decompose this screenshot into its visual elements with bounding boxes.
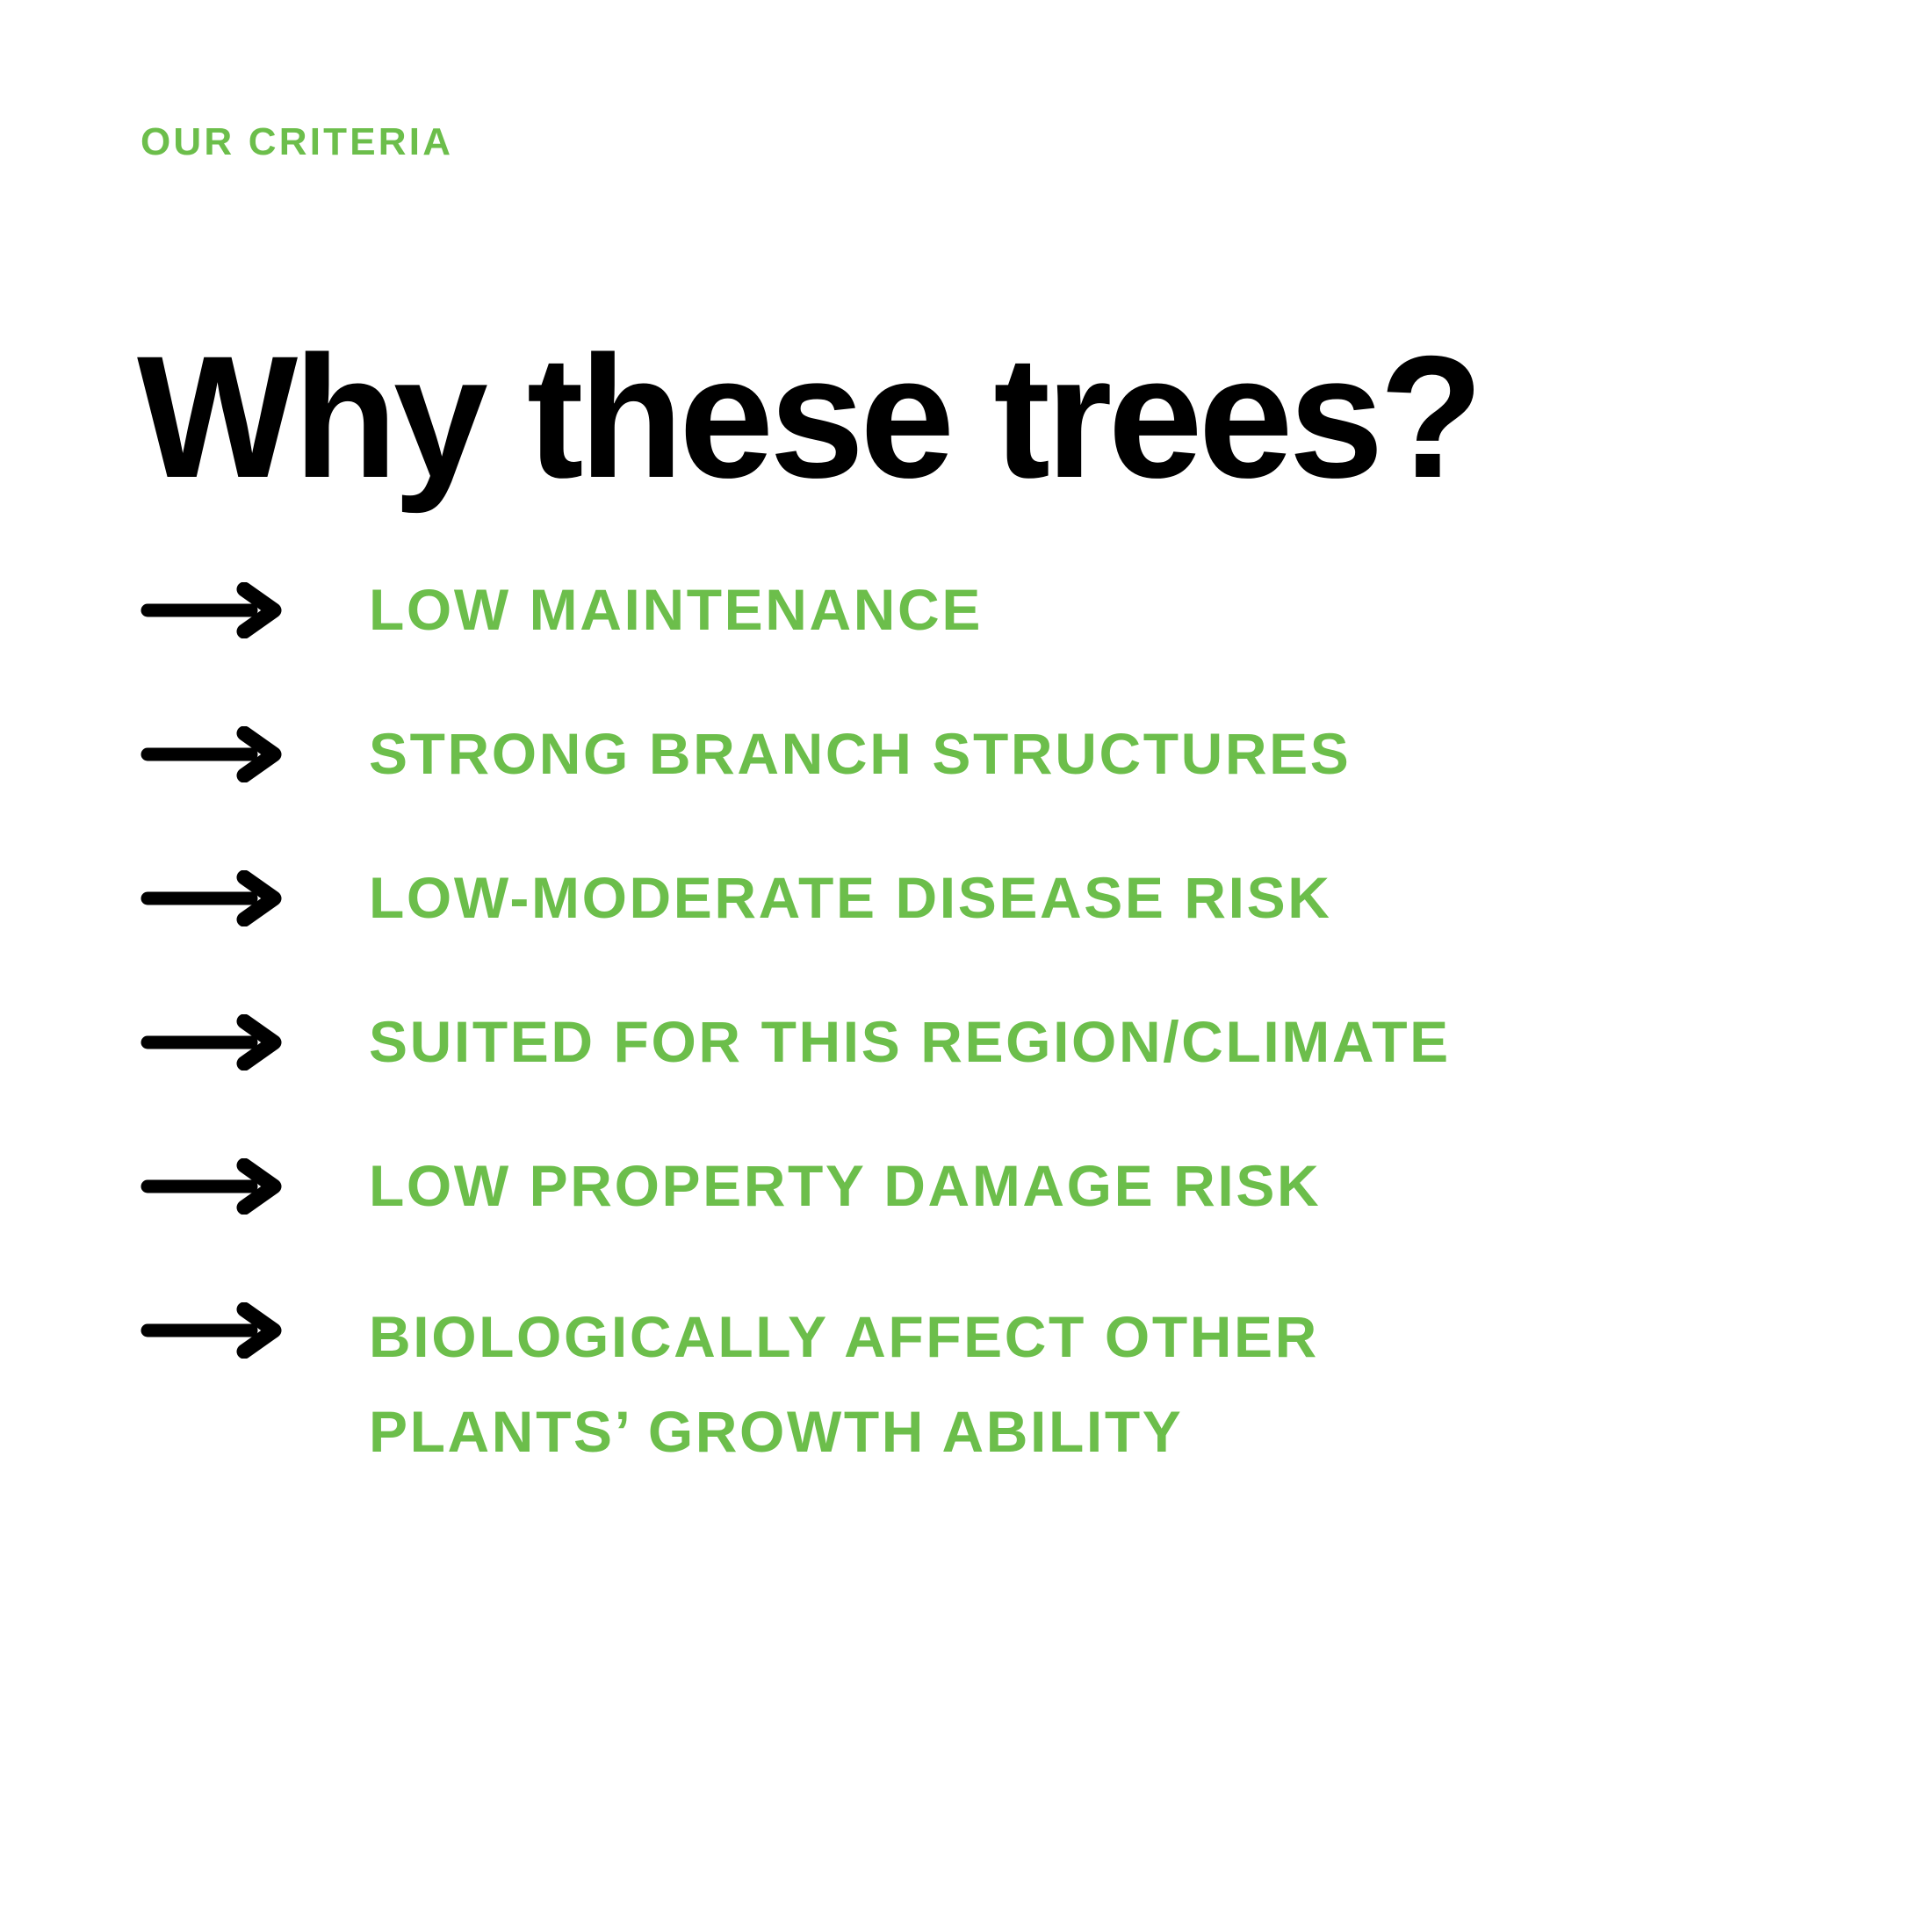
criteria-label: LOW-MODERATE DISEASE RISK <box>369 857 1331 938</box>
criteria-label: SUITED FOR THIS REGION/CLIMATE <box>369 1001 1451 1082</box>
list-item: LOW PROPERTY DAMAGE RISK <box>141 1145 1862 1226</box>
criteria-list: LOW MAINTENANCE STRONG BRANCH STRUCTURES… <box>141 569 1862 1479</box>
arrow-right-icon <box>141 1145 369 1226</box>
criteria-label: LOW PROPERTY DAMAGE RISK <box>369 1145 1321 1226</box>
list-item: BIOLOGICALLY AFFECT OTHER PLANTS’ GROWTH… <box>141 1289 1862 1479</box>
criteria-label: LOW MAINTENANCE <box>369 569 983 650</box>
list-item: LOW-MODERATE DISEASE RISK <box>141 857 1862 938</box>
slide-root: OUR CRITERIA Why these trees? LOW MAINTE… <box>0 0 1932 1932</box>
page-title: Why these trees? <box>137 330 1479 504</box>
arrow-right-icon <box>141 857 369 938</box>
eyebrow-label: OUR CRITERIA <box>141 123 453 162</box>
list-item: STRONG BRANCH STRUCTURES <box>141 713 1862 794</box>
criteria-label: BIOLOGICALLY AFFECT OTHER PLANTS’ GROWTH… <box>369 1289 1319 1479</box>
list-item: SUITED FOR THIS REGION/CLIMATE <box>141 1001 1862 1082</box>
arrow-right-icon <box>141 1001 369 1082</box>
criteria-label: STRONG BRANCH STRUCTURES <box>369 713 1351 794</box>
arrow-right-icon <box>141 1289 369 1370</box>
arrow-right-icon <box>141 569 369 650</box>
list-item: LOW MAINTENANCE <box>141 569 1862 650</box>
arrow-right-icon <box>141 713 369 794</box>
